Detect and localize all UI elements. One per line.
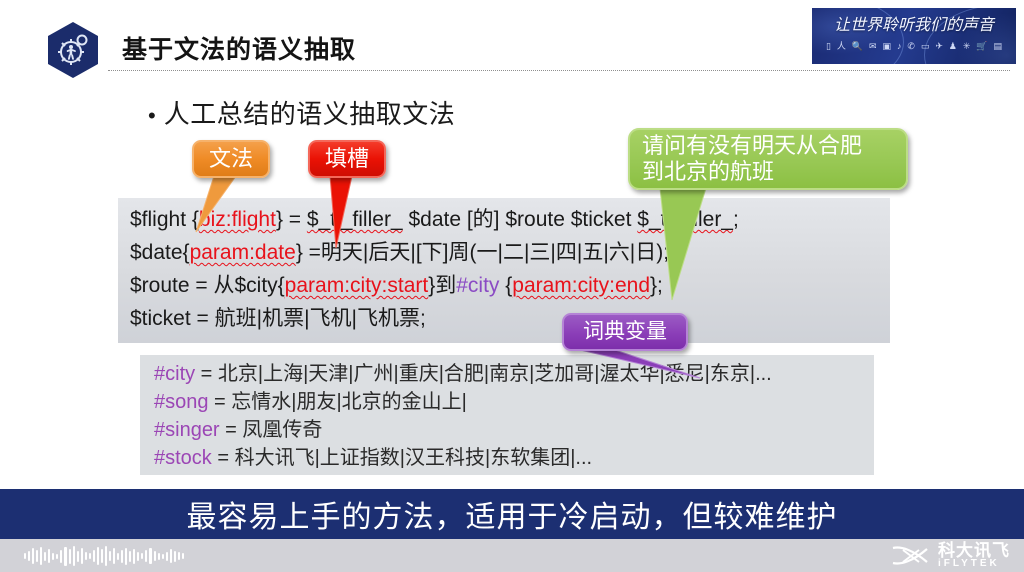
- code-token: param:city:start: [285, 274, 429, 297]
- hexagon-gear-person-icon: [48, 22, 98, 78]
- waveform-bar: [89, 553, 91, 559]
- phone-icon: ✆: [907, 41, 915, 51]
- waveform-bar: [85, 552, 87, 560]
- code-line-ticket-rule: $ticket = 航班|机票|飞机|飞机票;: [130, 308, 426, 330]
- waveform-bar: [170, 549, 172, 563]
- brand-name-en: iFLYTEK: [938, 559, 1010, 569]
- code-line-flight-rule: $flight {biz:flight} = $_ti_filler_ $dat…: [130, 209, 739, 231]
- gear-person-glyph: [56, 32, 90, 68]
- waveform-bar: [149, 548, 151, 564]
- code-token: param:city:end: [512, 274, 650, 297]
- bullet-marker: •: [148, 105, 156, 127]
- bottom-banner-text: 最容易上手的方法，适用于冷启动，但较难维护: [187, 492, 838, 536]
- waveform-bar: [64, 547, 66, 566]
- waveform-bar: [60, 550, 62, 563]
- title-divider: [108, 70, 1010, 71]
- waveform-bar: [56, 554, 58, 559]
- dictionary-panel: #city = 北京|上海|天津|广州|重庆|合肥|南京|芝加哥|渥太华|悉尼|…: [140, 355, 874, 475]
- code-token: $flight {: [130, 208, 199, 231]
- waveform-bar: [133, 549, 135, 564]
- waveform-bar: [93, 550, 95, 562]
- trophy-icon: ♟: [949, 41, 957, 51]
- iflytek-x-mark-icon: [891, 544, 931, 568]
- waveform-bar: [121, 550, 123, 563]
- waveform-bar: [141, 553, 143, 559]
- person-icon: 人: [837, 41, 846, 51]
- banner-slogan: 让世界聆听我们的声音: [822, 15, 1006, 35]
- dictionary-value: = 科大讯飞|上证指数|汉王科技|东软集团|...: [212, 447, 592, 469]
- code-token: } =明天|后天|[下]周(一|二|三|四|五|六|日);: [296, 241, 669, 264]
- waveform-bar: [44, 552, 46, 561]
- waveform-bar: [182, 553, 184, 559]
- callout-dictionary-variable: 词典变量: [562, 313, 688, 351]
- waveform-bar: [166, 552, 168, 561]
- waveform-bar: [24, 553, 26, 559]
- code-token: $ticket = 航班|机票|飞机|飞机票;: [130, 307, 426, 330]
- brand-name-cn: 科大讯飞: [938, 542, 1010, 559]
- code-token: ;: [733, 208, 739, 231]
- book-icon: ▤: [993, 41, 1002, 51]
- waveform-bar: [32, 548, 34, 564]
- chat-icon: ▭: [921, 41, 930, 51]
- cart-icon: 🛒: [976, 41, 987, 51]
- bullet-row: • 人工总结的语义抽取文法: [148, 94, 455, 131]
- music-icon: ♪: [897, 41, 902, 51]
- waveform-bar: [36, 550, 38, 562]
- waveform-bar: [145, 550, 147, 562]
- slide-header: 基于文法的语义抽取 让世界聆听我们的声音 ▯ 人 🔍 ✉ ▣ ♪ ✆ ▭ ✈ ♟…: [0, 0, 1024, 80]
- waveform-bar: [154, 551, 156, 561]
- waveform-bar: [73, 546, 75, 566]
- waveform-bar: [97, 547, 99, 565]
- code-token: {: [499, 274, 512, 297]
- code-line-date-rule: $date{param:date} =明天|后天|[下]周(一|二|三|四|五|…: [130, 242, 669, 264]
- waveform-bar: [40, 547, 42, 565]
- dictionary-value: = 忘情水|朋友|北京的金山上|: [209, 391, 467, 413]
- callout-grammar: 文法: [192, 140, 270, 178]
- waveform-bar: [137, 552, 139, 561]
- dictionary-entry-song: #song = 忘情水|朋友|北京的金山上|: [154, 392, 467, 413]
- waveform-bar: [69, 549, 71, 564]
- waveform-bar: [178, 552, 180, 560]
- callout-dictvar-label: 词典变量: [583, 320, 667, 345]
- waveform-bar: [129, 551, 131, 562]
- waveform-bar: [174, 551, 176, 562]
- code-token: $_ti_filler_: [637, 208, 733, 231]
- banner-icon-row: ▯ 人 🔍 ✉ ▣ ♪ ✆ ▭ ✈ ♟ ✳ 🛒 ▤: [826, 41, 1002, 51]
- code-token: #city: [456, 274, 499, 297]
- callout-example-query: 请问有没有明天从合肥 到北京的航班: [628, 128, 908, 190]
- dictionary-entry-city: #city = 北京|上海|天津|广州|重庆|合肥|南京|芝加哥|渥太华|悉尼|…: [154, 364, 772, 385]
- iflytek-logo: 科大讯飞 iFLYTEK: [891, 542, 1010, 569]
- code-line-route-rule: $route = 从$city{param:city:start}到#city …: [130, 275, 663, 297]
- bottom-banner: 最容易上手的方法，适用于冷启动，但较难维护: [0, 489, 1024, 539]
- bullet-text: 人工总结的语义抽取文法: [164, 94, 456, 131]
- waveform-bar: [158, 553, 160, 560]
- dictionary-key: #song: [154, 391, 209, 413]
- grammar-code-panel: $flight {biz:flight} = $_ti_filler_ $dat…: [118, 198, 890, 343]
- code-token: };: [650, 274, 663, 297]
- waveform-bar: [125, 548, 127, 565]
- code-token: $route = 从$city{: [130, 274, 285, 297]
- dictionary-key: #city: [154, 363, 195, 385]
- mobile-icon: ▯: [826, 41, 831, 51]
- code-token: $_ti_filler_: [307, 208, 403, 231]
- waveform-bar: [162, 554, 164, 559]
- calendar-icon: ▣: [882, 41, 891, 51]
- code-token: }到: [428, 274, 456, 297]
- waveform-bar: [101, 549, 103, 563]
- plane-icon: ✈: [935, 41, 943, 51]
- audio-waveform-icon: [24, 544, 184, 568]
- weather-icon: ✳: [963, 41, 971, 51]
- waveform-bar: [117, 553, 119, 560]
- dictionary-key: #singer: [154, 419, 220, 441]
- callout-query-label: 请问有没有明天从合肥 到北京的航班: [642, 133, 862, 185]
- dictionary-value: = 北京|上海|天津|广州|重庆|合肥|南京|芝加哥|渥太华|悉尼|东京|...: [195, 363, 772, 385]
- waveform-bar: [48, 549, 50, 563]
- dictionary-value: = 凤凰传奇: [220, 419, 323, 441]
- code-token: biz:flight: [199, 208, 276, 231]
- waveform-bar: [81, 548, 83, 564]
- callout-slot-label: 填槽: [325, 146, 369, 172]
- iflytek-wordmark: 科大讯飞 iFLYTEK: [938, 542, 1010, 569]
- page-title: 基于文法的语义抽取: [122, 30, 356, 66]
- callout-slot-filling: 填槽: [308, 140, 386, 178]
- dictionary-entry-stock: #stock = 科大讯飞|上证指数|汉王科技|东软集团|...: [154, 448, 592, 469]
- waveform-bar: [109, 551, 111, 561]
- waveform-bar: [77, 551, 79, 562]
- code-token: } =: [276, 208, 307, 231]
- callout-grammar-label: 文法: [209, 146, 253, 172]
- brand-banner: 让世界聆听我们的声音 ▯ 人 🔍 ✉ ▣ ♪ ✆ ▭ ✈ ♟ ✳ 🛒 ▤: [812, 8, 1016, 64]
- code-token: param:date: [190, 241, 296, 264]
- dictionary-entry-singer: #singer = 凤凰传奇: [154, 420, 322, 441]
- dictionary-key: #stock: [154, 447, 212, 469]
- mail-icon: ✉: [869, 41, 877, 51]
- search-icon: 🔍: [852, 41, 863, 51]
- waveform-bar: [52, 553, 54, 560]
- waveform-bar: [28, 551, 30, 561]
- code-token: $date{: [130, 241, 190, 264]
- code-token: $date [的] $route $ticket: [403, 208, 638, 231]
- waveform-bar: [105, 546, 107, 566]
- waveform-bar: [113, 548, 115, 564]
